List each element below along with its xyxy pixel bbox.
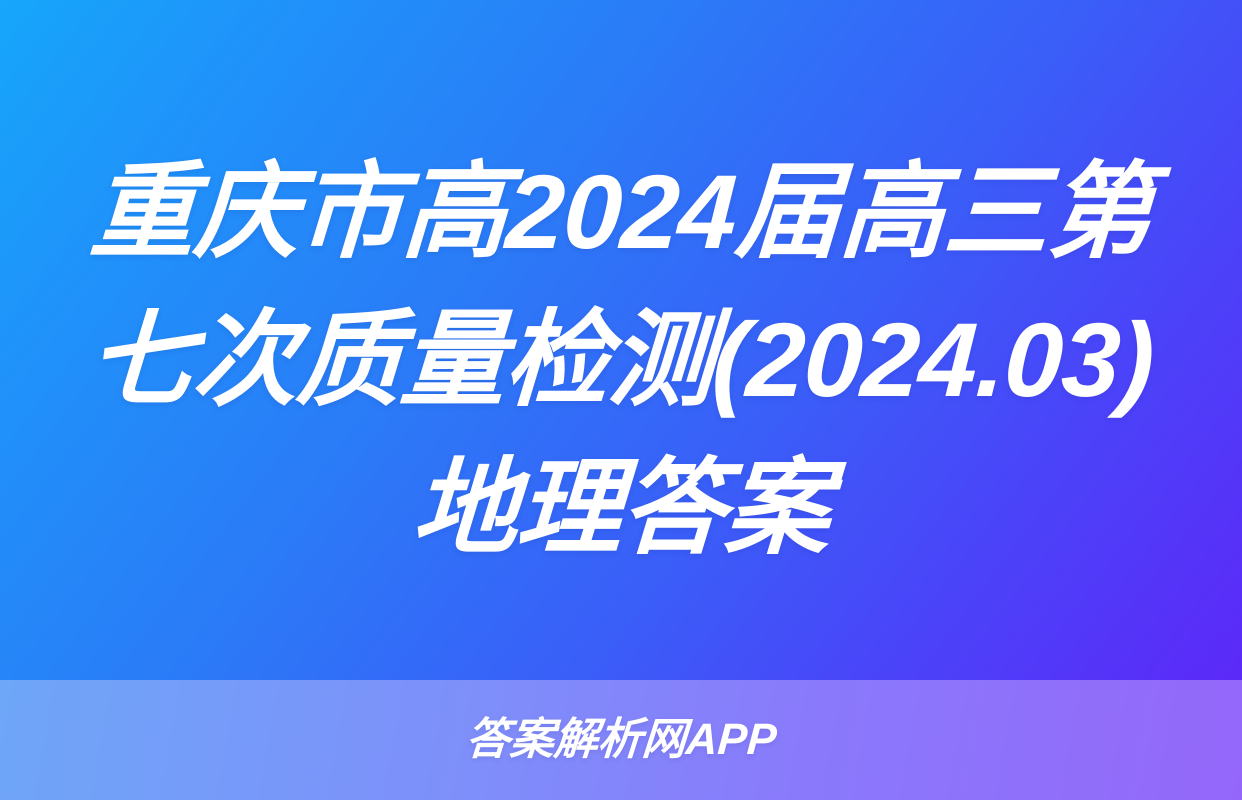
title-line-2: 七次质量检测(2024.03)	[37, 287, 1205, 435]
title-card: 重庆市高2024届高三第 七次质量检测(2024.03) 地理答案 答案解析网A…	[0, 0, 1242, 800]
footer-band: 答案解析网APP	[0, 680, 1242, 800]
footer-watermark-text: 答案解析网APP	[464, 715, 778, 765]
title-block: 重庆市高2024届高三第 七次质量检测(2024.03) 地理答案	[0, 0, 1242, 680]
title-line-1: 重庆市高2024届高三第	[37, 139, 1205, 287]
title-line-3: 地理答案	[37, 435, 1205, 583]
